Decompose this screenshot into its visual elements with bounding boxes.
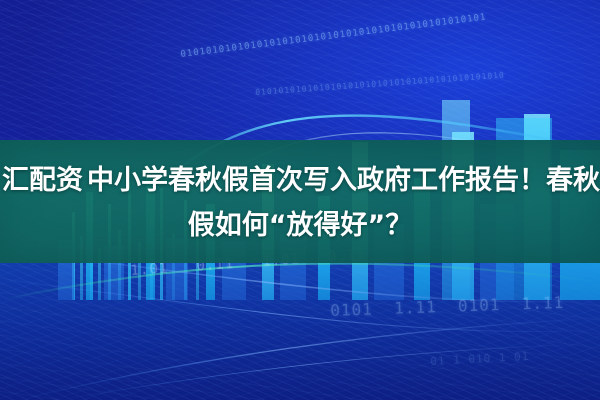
headline-line-2: 假如何“放得好”？ [0, 203, 600, 248]
brand-label: 汇配资 [2, 165, 83, 196]
headline-text: 汇配资中小学春秋假首次写入政府工作报告！春秋 假如何“放得好”？ [0, 158, 600, 248]
headline-line-1: 汇配资中小学春秋假首次写入政府工作报告！春秋 [0, 158, 600, 203]
headline-line-1-rest: 中小学春秋假首次写入政府工作报告！春秋 [87, 165, 600, 196]
banner-image: 0101010101010101010101010101010101010101… [0, 0, 600, 400]
